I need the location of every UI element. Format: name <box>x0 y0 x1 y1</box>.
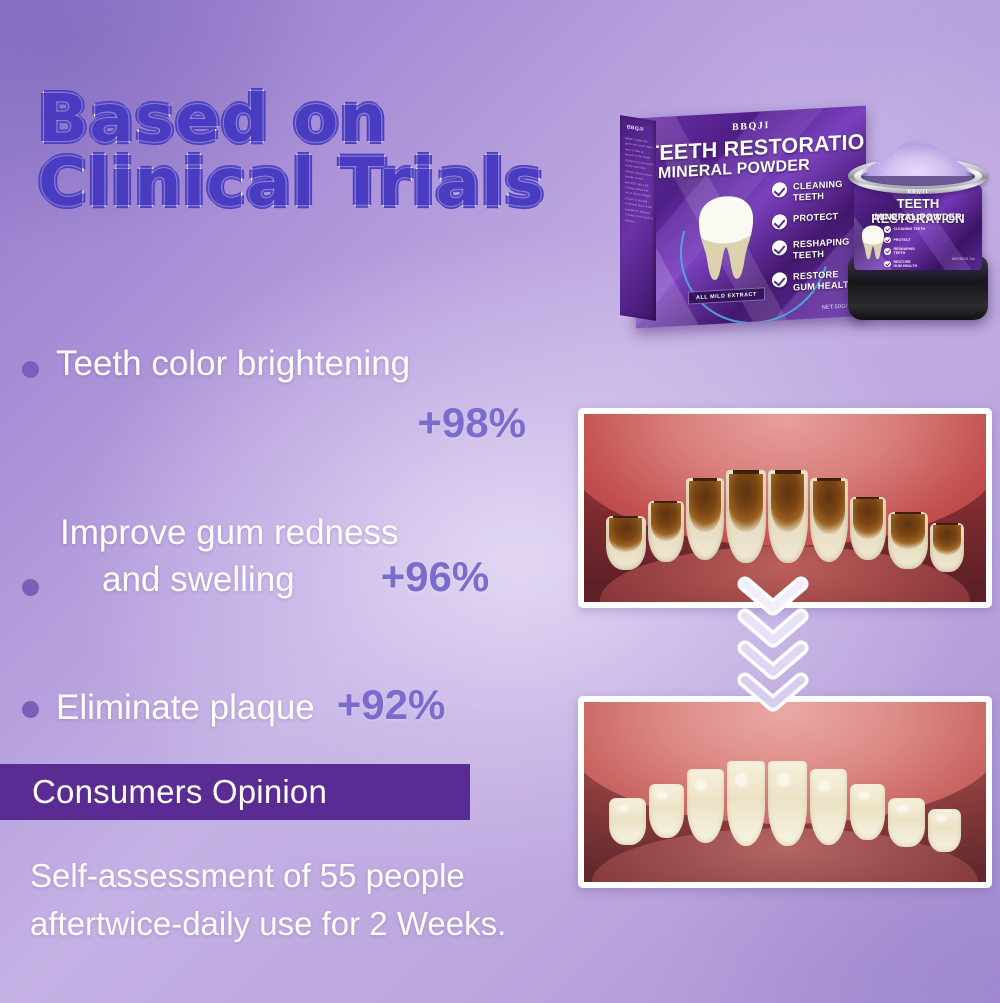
jar-feature-label: CLEANING TEETH <box>894 227 926 231</box>
footnote-line-2: aftertwice-daily use for 2 Weeks. <box>30 900 630 948</box>
product-jar: BBQJI TEETH RESTORATION MINERAL POWDER C… <box>842 128 994 330</box>
product-box-side-panel: BBQJI BBQJI 1.Wake the gums with warm wa… <box>620 115 656 321</box>
claim-item: Teeth color brightening +98% <box>18 344 548 447</box>
check-circle-icon <box>884 237 891 244</box>
tooth-illustration-icon <box>860 224 886 262</box>
jar-net-weight: NET:50G/1.7oz <box>952 257 975 261</box>
transformation-arrows <box>735 576 845 716</box>
box-feature-label: PROTECT <box>793 211 838 224</box>
product-box: BBQJI TEETH RESTORATION MINERAL POWDER A… <box>636 106 866 329</box>
tooth-shape <box>687 769 724 844</box>
tooth-shape <box>810 769 847 846</box>
jar-feature-item: RESHAPING TEETH <box>884 247 925 256</box>
tooth-shape <box>768 470 808 563</box>
claim-value: +92% <box>337 681 446 729</box>
tooth-shape <box>686 478 724 560</box>
claim-label: Eliminate plaque <box>56 688 315 729</box>
jar-feature-list: CLEANING TEETH PROTECT RESHAPING TEETH R… <box>884 226 925 270</box>
tooth-shape <box>888 798 925 846</box>
box-feature-label: RESHAPING TEETH <box>793 236 849 261</box>
tooth-shape <box>850 784 885 840</box>
box-side-brand-label: BBQJI <box>627 124 644 133</box>
tooth-shape <box>606 516 646 571</box>
footnote-line-1: Self-assessment of 55 people <box>30 852 630 900</box>
tooth-shape <box>727 761 766 846</box>
chevron-down-icon <box>735 672 811 718</box>
claim-item: Improve gum redness and swelling +96% <box>18 513 548 602</box>
tooth-shape <box>928 809 961 851</box>
check-circle-icon <box>772 272 787 288</box>
check-circle-icon <box>884 248 891 255</box>
tooth-shape <box>726 470 766 563</box>
headline-line-2: Clinical Trials <box>38 152 678 214</box>
consumers-opinion-label: Consumers Opinion <box>0 773 327 811</box>
consumers-footnote: Self-assessment of 55 people aftertwice-… <box>30 852 630 948</box>
tooth-shape <box>648 501 684 562</box>
jar-feature-label: PROTECT <box>894 238 911 242</box>
jar-feature-label: RESTORE GUM HEALTH <box>894 260 918 269</box>
claim-label: Improve gum redness <box>60 513 548 554</box>
tooth-shape <box>930 523 964 571</box>
check-circle-icon <box>884 261 891 268</box>
consumers-opinion-banner: Consumers Opinion <box>0 764 470 820</box>
page-title: Based on Clinical Trials <box>38 88 678 214</box>
jar-title-line-2: MINERAL POWDER <box>854 211 982 222</box>
box-side-fine-print: BBQJI 1.Wake the gums with warm water ri… <box>625 136 653 227</box>
jar-feature-item: CLEANING TEETH <box>884 226 925 233</box>
tooth-shape <box>768 761 807 846</box>
claims-list: Teeth color brightening +98% Improve gum… <box>18 344 548 735</box>
mineral-powder-mound <box>858 134 976 176</box>
tooth-shape <box>609 798 646 844</box>
jar-feature-item: RESTORE GUM HEALTH <box>884 260 925 269</box>
bullet-dot-icon <box>22 701 39 718</box>
claim-value: +96% <box>381 553 490 601</box>
jar-brand-label: BBQJI <box>854 189 982 195</box>
after-photo <box>578 696 992 888</box>
tooth-shape <box>888 512 928 569</box>
claim-label-continued: and swelling <box>102 560 295 601</box>
check-circle-icon <box>772 182 787 198</box>
product-shot: BBQJI TEETH RESTORATION MINERAL POWDER A… <box>620 100 1000 335</box>
claim-value: +98% <box>56 399 526 447</box>
tooth-shape <box>810 478 848 562</box>
claim-label: Teeth color brightening <box>56 344 548 385</box>
tooth-shape <box>649 784 684 838</box>
tooth-shape <box>850 497 886 560</box>
check-circle-icon <box>772 240 787 256</box>
claim-item: Eliminate plaque +92% <box>18 681 548 735</box>
check-circle-icon <box>772 214 787 230</box>
jar-feature-label: RESHAPING TEETH <box>894 247 915 256</box>
jar-feature-item: PROTECT <box>884 237 925 244</box>
bullet-dot-icon <box>22 361 39 378</box>
tooth-illustration-icon <box>694 192 758 288</box>
bullet-dot-icon <box>22 579 39 596</box>
check-circle-icon <box>884 226 891 233</box>
jar-label: BBQJI TEETH RESTORATION MINERAL POWDER C… <box>854 184 982 270</box>
